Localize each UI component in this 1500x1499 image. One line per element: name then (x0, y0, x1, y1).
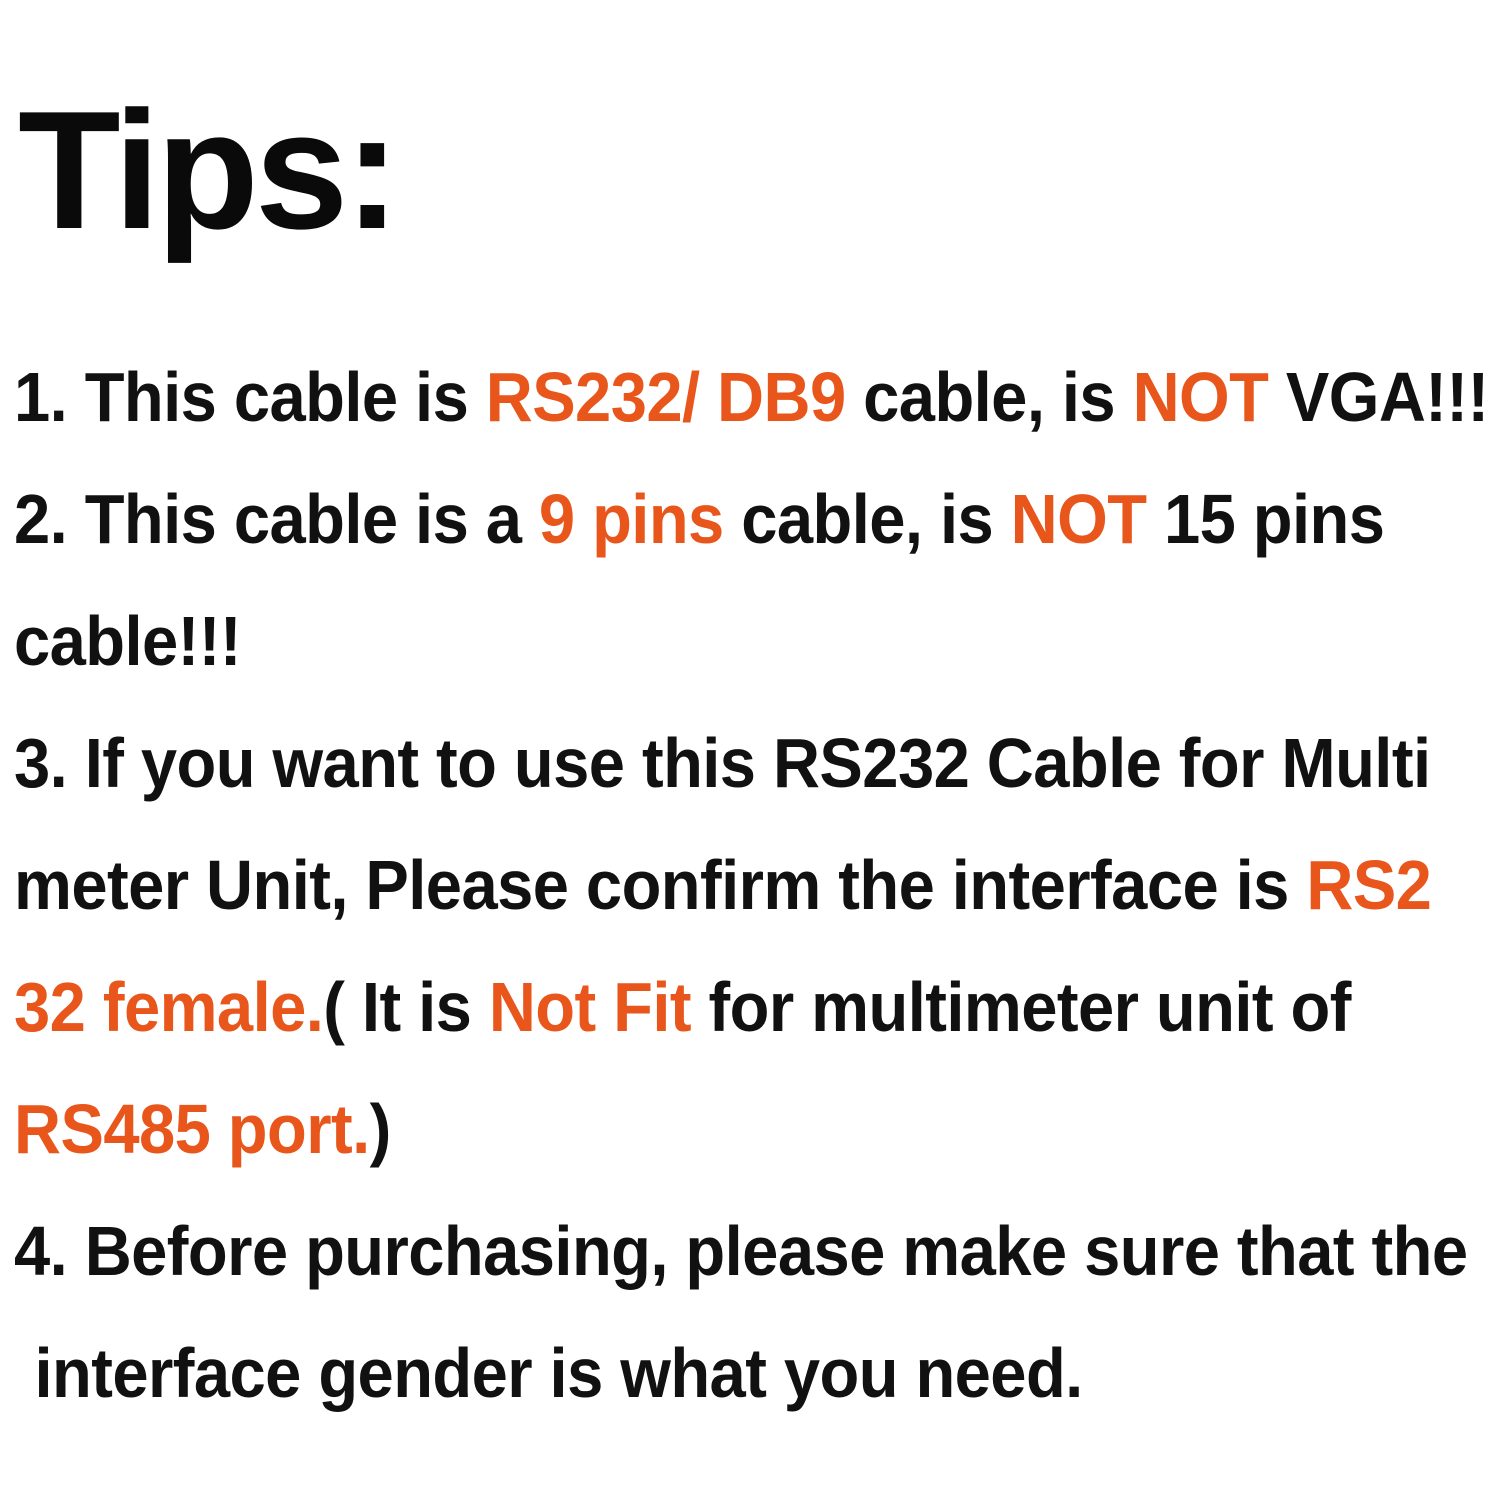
body-text: 2. This cable is a (14, 480, 539, 558)
tip-text-line: 1. This cable is RS232/ DB9 cable, is NO… (14, 310, 1383, 432)
body-text: interface gender is what you need. (34, 1334, 1082, 1412)
tip-text-line: interface gender is what you need. (14, 1286, 1383, 1408)
tips-list: 1. This cable is RS232/ DB9 cable, is NO… (14, 310, 1486, 1408)
body-text: 15 pins (1146, 480, 1384, 558)
tip-line-content: 32 female.( It is Not Fit for multimeter… (14, 972, 1351, 1042)
tip-line-content: 3. If you want to use this RS232 Cable f… (14, 728, 1430, 798)
tip-line-content: 2. This cable is a 9 pins cable, is NOT … (14, 484, 1384, 554)
body-text: ( It is (323, 968, 489, 1046)
highlight-text: 9 pins (539, 480, 724, 558)
tip-line-content: cable!!! (14, 606, 241, 676)
tip-text-line: 32 female.( It is Not Fit for multimeter… (14, 920, 1383, 1042)
tip-line-content: 1. This cable is RS232/ DB9 cable, is NO… (14, 362, 1489, 432)
tip-line-content: interface gender is what you need. (34, 1338, 1082, 1408)
highlight-text: NOT (1011, 480, 1147, 558)
highlight-text: RS232/ DB9 (486, 358, 846, 436)
body-text: ) (370, 1090, 391, 1168)
tip-text-line: cable!!! (14, 554, 1383, 676)
tip-text-line: 4. Before purchasing, please make sure t… (14, 1164, 1383, 1286)
body-text: cable, is (724, 480, 1011, 558)
tip-text-line: meter Unit, Please confirm the interface… (14, 798, 1383, 920)
body-text: cable!!! (14, 602, 241, 680)
body-text: 3. If you want to use this RS232 Cable f… (14, 724, 1430, 802)
tip-text-line: 3. If you want to use this RS232 Cable f… (14, 676, 1383, 798)
tip-text-line: RS485 port.) (14, 1042, 1383, 1164)
tip-line-content: meter Unit, Please confirm the interface… (14, 850, 1431, 920)
body-text: VGA!!! (1268, 358, 1488, 436)
highlight-text: Not Fit (489, 968, 691, 1046)
highlight-text: 32 female. (14, 968, 323, 1046)
body-text: meter Unit, Please confirm the interface… (14, 846, 1306, 924)
tips-page: Tips: 1. This cable is RS232/ DB9 cable,… (0, 0, 1500, 1499)
body-text: cable, is (846, 358, 1133, 436)
tip-line-content: 4. Before purchasing, please make sure t… (14, 1216, 1468, 1286)
highlight-text: NOT (1133, 358, 1269, 436)
body-text: 4. Before purchasing, please make sure t… (14, 1212, 1468, 1290)
page-title: Tips: (14, 0, 1486, 286)
tip-text-line: 2. This cable is a 9 pins cable, is NOT … (14, 432, 1383, 554)
body-text: 1. This cable is (14, 358, 486, 436)
highlight-text: RS2 (1306, 846, 1431, 924)
body-text: for multimeter unit of (691, 968, 1351, 1046)
highlight-text: RS485 port. (14, 1090, 370, 1168)
tip-line-content: RS485 port.) (14, 1094, 391, 1164)
